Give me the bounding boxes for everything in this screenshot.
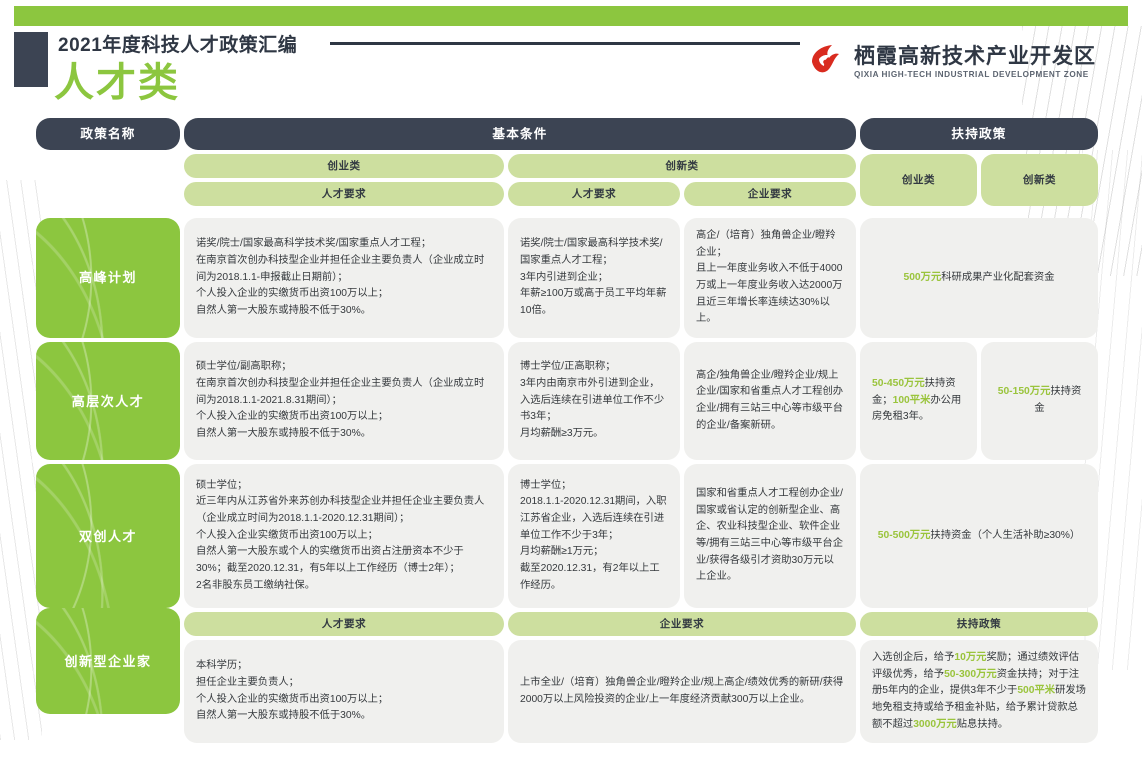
cell-innovation-enterprise: 国家和省重点人才工程创办企业/国家或省认定的创新型企业、高企、农业科技型企业、软… bbox=[684, 464, 856, 608]
section4-header-talent-req: 人才要求 bbox=[184, 612, 504, 636]
header-policy-name: 政策名称 bbox=[36, 118, 180, 150]
row-label-gaocengcirencai: 高层次人才 bbox=[36, 342, 180, 460]
text-line: 个人投入企业的实缴货币出资100万以上； bbox=[196, 286, 492, 303]
text-line: 自然人第一大股东或个人的实缴货币出资占注册资本不少于30%；截至2020.12.… bbox=[196, 544, 492, 577]
cell-innovation-talent: 博士学位/正高职称；3年内由南京市外引进到企业，入选后连续在引进单位工作不少书3… bbox=[508, 342, 680, 460]
text-line: 截至2020.12.31，有2年以上工作经历。 bbox=[520, 561, 668, 594]
text-line: 3年内由南京市外引进到企业，入选后连续在引进单位工作不少书3年； bbox=[520, 376, 668, 426]
text-line: 2018.1.1-2020.12.31期间，入职江苏省企业，入选后连续在引进单位… bbox=[520, 494, 668, 544]
highlight-amount: 500万元 bbox=[903, 272, 941, 283]
highlight-amount: 50-500万元 bbox=[878, 530, 931, 541]
table-row: 创新型企业家 本科学历；担任企业主要负责人；个人投入企业的实缴货币出资100万以… bbox=[36, 640, 1098, 743]
text-line: 本科学历； bbox=[196, 658, 388, 675]
highlight-amount: 3000万元 bbox=[913, 719, 957, 730]
support-group-header-innovation: 创新类 bbox=[981, 154, 1098, 206]
text-list: 诺奖/院士/国家最高科学技术奖/国家重点人才工程；在南京首次创办科技型企业并担任… bbox=[196, 236, 492, 319]
text-line: 自然人第一大股东或持股不低于30%。 bbox=[196, 426, 492, 443]
cell-startup-talent: 诺奖/院士/国家最高科学技术奖/国家重点人才工程；在南京首次创办科技型企业并担任… bbox=[184, 218, 504, 338]
cell-talent-req: 本科学历；担任企业主要负责人；个人投入企业的实缴货币出资100万以上；自然人第一… bbox=[184, 640, 504, 743]
text-list: 高企/（培育）独角兽企业/瞪羚企业；且上一年度业务收入不低于4000万或上一年度… bbox=[696, 228, 844, 328]
text-line: 诺奖/院士/国家最高科学技术奖/国家重点人才工程； bbox=[520, 236, 668, 269]
cell-innovation-enterprise: 高企/（培育）独角兽企业/瞪羚企业；且上一年度业务收入不低于4000万或上一年度… bbox=[684, 218, 856, 338]
flame-icon bbox=[805, 42, 845, 82]
text-segment: 入选创企后，给予 bbox=[872, 652, 954, 663]
policy-table: 政策名称 基本条件 扶持政策 创业类 创新类 人才要求 人才要求 企业要求 创业… bbox=[36, 118, 1098, 743]
cell-innovation-enterprise: 高企/独角兽企业/瞪羚企业/规上企业/国家和省重点人才工程创办企业/拥有三站三中… bbox=[684, 342, 856, 460]
text-line: 在南京首次创办科技型企业并担任企业主要负责人（企业成立时间为2018.1.1-2… bbox=[196, 376, 492, 409]
header-rule bbox=[330, 42, 800, 45]
text-segment: 科研成果产业化配套资金 bbox=[941, 272, 1054, 283]
page-title: 人才类 bbox=[54, 50, 180, 108]
table-top-header-row: 政策名称 基本条件 扶持政策 bbox=[36, 118, 1098, 150]
cell-support-merged: 50-500万元扶持资金（个人生活补助≥30%） bbox=[860, 464, 1098, 608]
row-label-text: 创新型企业家 bbox=[64, 651, 151, 672]
row-label-text: 高峰计划 bbox=[79, 267, 137, 288]
highlight-amount: 10万元 bbox=[954, 652, 986, 663]
support-group-header-startup: 创业类 bbox=[860, 154, 977, 206]
text-line: 硕士学位/副高职称； bbox=[196, 359, 492, 376]
text-list: 博士学位/正高职称；3年内由南京市外引进到企业，入选后连续在引进单位工作不少书3… bbox=[520, 359, 668, 442]
cell-startup-talent: 硕士学位/副高职称；在南京首次创办科技型企业并担任企业主要负责人（企业成立时间为… bbox=[184, 342, 504, 460]
rich-text: 50-500万元扶持资金（个人生活补助≥30%） bbox=[878, 528, 1080, 545]
highlight-amount: 50-150万元 bbox=[998, 386, 1051, 397]
header-basic-conditions: 基本条件 bbox=[184, 118, 856, 150]
text-list: 诺奖/院士/国家最高科学技术奖/国家重点人才工程；3年内引进到企业；年薪≥100… bbox=[520, 236, 668, 319]
row-label-text: 双创人才 bbox=[79, 526, 137, 547]
text-line: 博士学位； bbox=[520, 478, 668, 495]
rich-text: 入选创企后，给予10万元奖励；通过绩效评估评级优秀，给予50-300万元资金扶持… bbox=[872, 650, 1086, 733]
text-list: 上市全业/（培育）独角兽企业/瞪羚企业/规上高企/绩效优秀的新研/获得2000万… bbox=[520, 675, 844, 708]
text-line: 自然人第一大股东或持股不低于30%。 bbox=[196, 708, 388, 725]
text-line: 3年内引进到企业； bbox=[520, 270, 668, 287]
cell-innovation-talent: 诺奖/院士/国家最高科学技术奖/国家重点人才工程；3年内引进到企业；年薪≥100… bbox=[508, 218, 680, 338]
text-line: 近三年内从江苏省外来苏创办科技型企业并担任企业主要负责人（企业成立时间为2018… bbox=[196, 494, 492, 527]
highlight-amount: 50-300万元 bbox=[944, 669, 997, 680]
cell-support-innovation: 50-150万元扶持资金 bbox=[981, 342, 1098, 460]
text-list: 博士学位；2018.1.1-2020.12.31期间，入职江苏省企业，入选后连续… bbox=[520, 478, 668, 595]
text-line: 上市全业/（培育）独角兽企业/瞪羚企业/规上高企/绩效优秀的新研/获得2000万… bbox=[520, 675, 844, 708]
text-line: 高企/独角兽企业/瞪羚企业/规上企业/国家和省重点人才工程创办企业/拥有三站三中… bbox=[696, 368, 844, 435]
cell-support-policy: 入选创企后，给予10万元奖励；通过绩效评估评级优秀，给予50-300万元资金扶持… bbox=[860, 640, 1098, 743]
text-line: 在南京首次创办科技型企业并担任企业主要负责人（企业成立时间为2018.1.1-申… bbox=[196, 253, 492, 286]
text-line: 个人投入企业实缴货币出资100万以上； bbox=[196, 528, 492, 545]
qixia-logo: 栖霞高新技术产业开发区 QIXIA HIGH-TECH INDUSTRIAL D… bbox=[805, 38, 1096, 86]
section4-header-enterprise-req: 企业要求 bbox=[508, 612, 856, 636]
text-list: 国家和省重点人才工程创办企业/国家或省认定的创新型企业、高企、农业科技型企业、软… bbox=[696, 486, 844, 586]
text-line: 月均薪酬≥3万元。 bbox=[520, 426, 668, 443]
logo-text: 栖霞高新技术产业开发区 QIXIA HIGH-TECH INDUSTRIAL D… bbox=[854, 45, 1096, 79]
table-row: 双创人才 硕士学位；近三年内从江苏省外来苏创办科技型企业并担任企业主要负责人（企… bbox=[36, 464, 1098, 608]
logo-name-en: QIXIA HIGH-TECH INDUSTRIAL DEVELOPMENT Z… bbox=[854, 70, 1096, 79]
highlight-amount: 50-450万元 bbox=[872, 378, 925, 389]
text-line: 月均薪酬≥1万元； bbox=[520, 544, 668, 561]
highlight-amount: 500平米 bbox=[1017, 685, 1055, 696]
table-row: 高层次人才 硕士学位/副高职称；在南京首次创办科技型企业并担任企业主要负责人（企… bbox=[36, 342, 1098, 460]
text-list: 本科学历；担任企业主要负责人；个人投入企业的实缴货币出资100万以上；自然人第一… bbox=[196, 658, 388, 725]
page-header: 2021年度科技人才政策汇编 人才类 栖霞高新技术产业开发区 QIXIA HIG… bbox=[0, 26, 1142, 106]
rich-text: 500万元科研成果产业化配套资金 bbox=[903, 270, 1054, 287]
header-support-policy: 扶持政策 bbox=[860, 118, 1098, 150]
section4-header-support-policy: 扶持政策 bbox=[860, 612, 1098, 636]
cell-innovation-talent: 博士学位；2018.1.1-2020.12.31期间，入职江苏省企业，入选后连续… bbox=[508, 464, 680, 608]
text-line: 博士学位/正高职称； bbox=[520, 359, 668, 376]
cell-enterprise-req: 上市全业/（培育）独角兽企业/瞪羚企业/规上高企/绩效优秀的新研/获得2000万… bbox=[508, 640, 856, 743]
top-green-bar bbox=[14, 6, 1128, 26]
text-line: 且上一年度业务收入不低于4000万或上一年度业务收入达2000万且近三年增长率连… bbox=[696, 261, 844, 328]
sub-header-talent-req-startup: 人才要求 bbox=[184, 182, 504, 206]
row-label-gaofengjihua: 高峰计划 bbox=[36, 218, 180, 338]
text-list: 硕士学位；近三年内从江苏省外来苏创办科技型企业并担任企业主要负责人（企业成立时间… bbox=[196, 478, 492, 595]
row-label-shuangchuangrencai: 双创人才 bbox=[36, 464, 180, 608]
text-segment: 贴息扶持。 bbox=[957, 719, 1008, 730]
header-accent-block bbox=[14, 32, 48, 87]
text-line: 自然人第一大股东或持股不低于30%。 bbox=[196, 303, 492, 320]
text-list: 高企/独角兽企业/瞪羚企业/规上企业/国家和省重点人才工程创办企业/拥有三站三中… bbox=[696, 368, 844, 435]
text-line: 个人投入企业的实缴货币出资100万以上； bbox=[196, 409, 492, 426]
sub-header-enterprise-req: 企业要求 bbox=[684, 182, 856, 206]
text-line: 诺奖/院士/国家最高科学技术奖/国家重点人才工程； bbox=[196, 236, 492, 253]
text-list: 硕士学位/副高职称；在南京首次创办科技型企业并担任企业主要负责人（企业成立时间为… bbox=[196, 359, 492, 442]
highlight-amount: 100平米 bbox=[893, 395, 931, 406]
cell-support-merged: 500万元科研成果产业化配套资金 bbox=[860, 218, 1098, 338]
table-row: 高峰计划 诺奖/院士/国家最高科学技术奖/国家重点人才工程；在南京首次创办科技型… bbox=[36, 218, 1098, 338]
group-header-startup: 创业类 bbox=[184, 154, 504, 178]
text-line: 担任企业主要负责人； bbox=[196, 675, 388, 692]
table-section4-header-row: 人才要求 企业要求 扶持政策 bbox=[36, 612, 1098, 636]
text-line: 硕士学位； bbox=[196, 478, 492, 495]
table-group-header-row: 创业类 创新类 人才要求 人才要求 企业要求 创业类 创新类 bbox=[36, 154, 1098, 210]
cell-support-startup: 50-450万元扶持资金；100平米办公用房免租3年。 bbox=[860, 342, 977, 460]
row-label-chuangxinxingqiyejia: 创新型企业家 bbox=[36, 608, 180, 714]
sub-header-talent-req-innovation: 人才要求 bbox=[508, 182, 680, 206]
group-header-innovation: 创新类 bbox=[508, 154, 856, 178]
text-line: 个人投入企业的实缴货币出资100万以上； bbox=[196, 692, 388, 709]
text-segment: 扶持资金（个人生活补助≥30%） bbox=[930, 530, 1080, 541]
text-line: 2名非股东员工缴纳社保。 bbox=[196, 578, 492, 595]
row-label-text: 高层次人才 bbox=[72, 391, 145, 412]
text-line: 年薪≥100万或高于员工平均年薪10倍。 bbox=[520, 286, 668, 319]
text-line: 国家和省重点人才工程创办企业/国家或省认定的创新型企业、高企、农业科技型企业、软… bbox=[696, 486, 844, 586]
logo-name-cn: 栖霞高新技术产业开发区 bbox=[854, 45, 1096, 68]
rich-text: 50-450万元扶持资金；100平米办公用房免租3年。 bbox=[872, 376, 965, 426]
cell-startup-talent: 硕士学位；近三年内从江苏省外来苏创办科技型企业并担任企业主要负责人（企业成立时间… bbox=[184, 464, 504, 608]
rich-text: 50-150万元扶持资金 bbox=[993, 384, 1086, 417]
text-line: 高企/（培育）独角兽企业/瞪羚企业； bbox=[696, 228, 844, 261]
